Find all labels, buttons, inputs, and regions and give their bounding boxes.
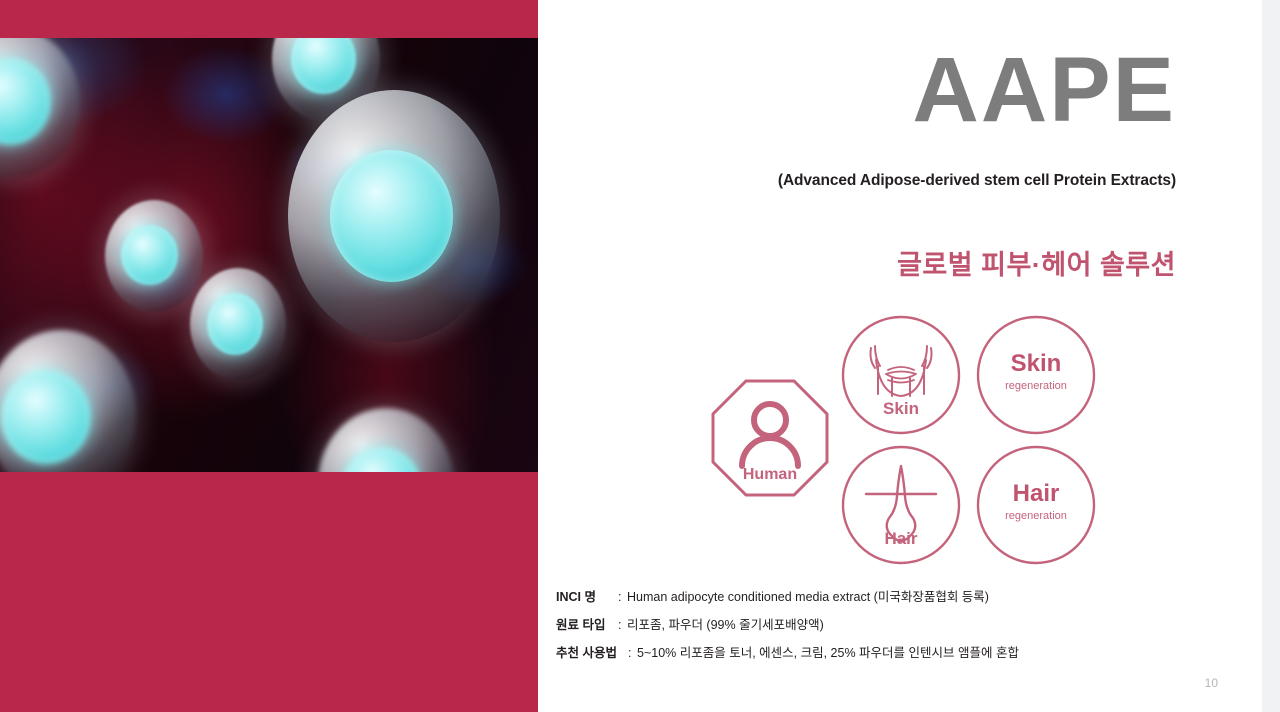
spec-value: 리포좀, 파우더 (99% 줄기세포배양액) xyxy=(627,614,1196,633)
spec-label: INCI 명 xyxy=(556,586,618,605)
spec-row: 추천 사용법 : 5~10% 리포좀을 토너, 에센스, 크림, 25% 파우더… xyxy=(556,642,1196,661)
korean-headline: 글로벌 피부·헤어 솔루션 xyxy=(538,243,1176,282)
spec-colon: : xyxy=(618,590,627,604)
solution-icon-cluster: Human Ski xyxy=(710,300,1110,562)
cell-decor xyxy=(0,330,136,472)
badge-hair-regeneration-sub: regeneration xyxy=(975,510,1097,522)
brand-expansion: (Advanced Adipose-derived stem cell Prot… xyxy=(538,172,1176,190)
page-number: 10 xyxy=(1205,676,1218,690)
page-title: AAPE xyxy=(538,44,1176,136)
spec-row: INCI 명 : Human adipocyte conditioned med… xyxy=(556,586,1196,605)
badge-human[interactable]: Human xyxy=(710,378,830,498)
badge-skin-regeneration-sub: regeneration xyxy=(975,380,1097,392)
right-content-panel: AAPE (Advanced Adipose-derived stem cell… xyxy=(538,0,1262,712)
cell-decor xyxy=(0,38,80,178)
badge-skin-label: Skin xyxy=(840,399,962,419)
badge-human-label: Human xyxy=(710,466,830,484)
spec-value: Human adipocyte conditioned media extrac… xyxy=(627,586,1196,605)
cell-decor xyxy=(105,200,203,312)
spec-colon: : xyxy=(628,646,637,660)
spec-colon: : xyxy=(618,618,627,632)
badge-skin-regeneration[interactable]: Skin regeneration xyxy=(975,314,1097,436)
badge-hair-regeneration-main: Hair xyxy=(975,480,1097,508)
cell-main xyxy=(288,90,500,342)
spec-value: 5~10% 리포좀을 토너, 에센스, 크림, 25% 파우더를 인텐시브 앰플… xyxy=(637,642,1196,661)
badge-hair-regeneration[interactable]: Hair regeneration xyxy=(975,444,1097,566)
spec-label: 추천 사용법 xyxy=(556,642,628,661)
spec-row: 원료 타입 : 리포좀, 파우더 (99% 줄기세포배양액) xyxy=(556,614,1196,633)
spec-list: INCI 명 : Human adipocyte conditioned med… xyxy=(556,586,1196,670)
left-crimson-panel xyxy=(0,0,538,712)
badge-skin-regeneration-main: Skin xyxy=(975,350,1097,378)
badge-hair[interactable]: Hair xyxy=(840,444,962,566)
spec-label: 원료 타입 xyxy=(556,614,618,633)
cell-decor xyxy=(190,268,286,380)
right-edge-strip xyxy=(1262,0,1280,712)
person-icon xyxy=(742,404,798,466)
slide-root: AAPE (Advanced Adipose-derived stem cell… xyxy=(0,0,1280,712)
stem-cell-photo xyxy=(0,38,538,472)
cell-decor xyxy=(318,408,454,472)
badge-hair-label: Hair xyxy=(840,529,962,549)
badge-skin[interactable]: Skin xyxy=(840,314,962,436)
